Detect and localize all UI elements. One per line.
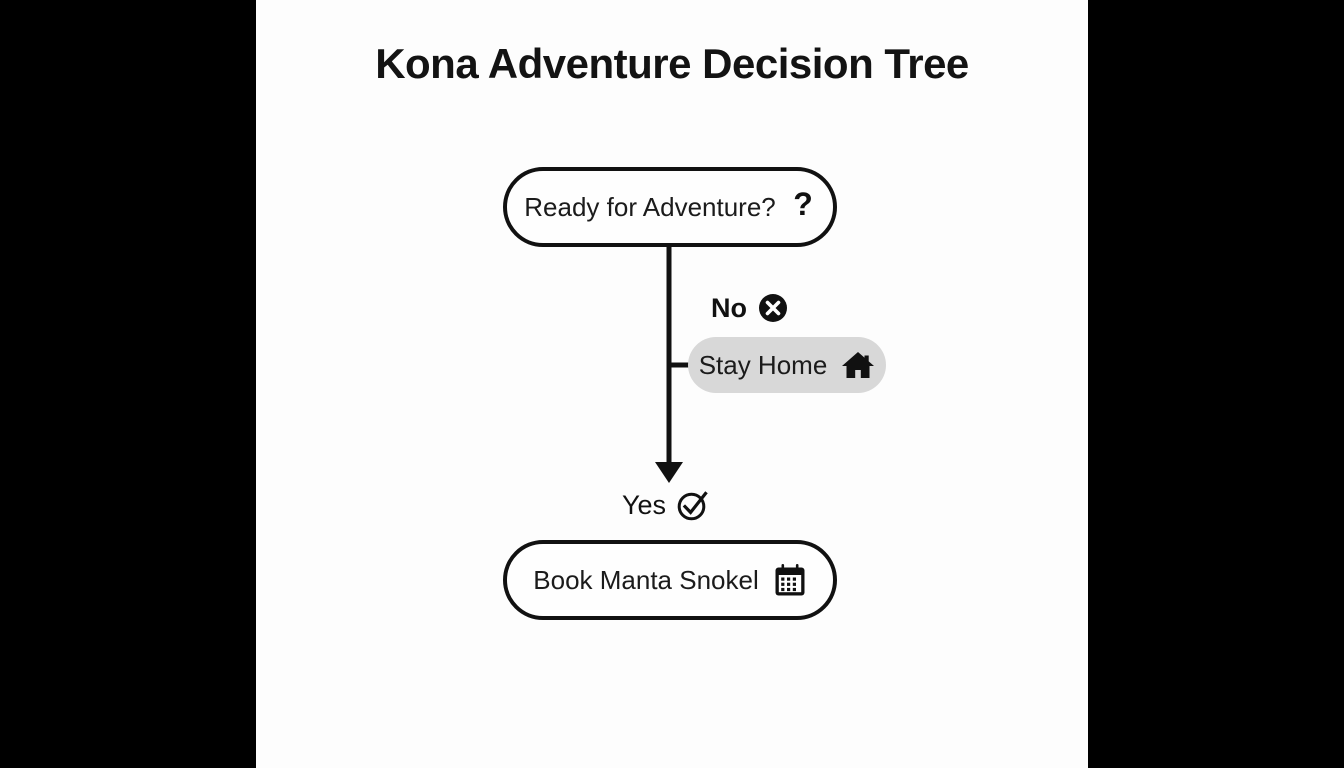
node-book-manta-snorkel[interactable]: Book Manta Snokel [503, 540, 837, 620]
connector-lines [256, 0, 1088, 768]
branch-label-yes: Yes [622, 490, 708, 521]
diagram-canvas: Kona Adventure Decision Tree Ready for A… [256, 0, 1088, 768]
letterbox-bar-left [0, 0, 256, 768]
calendar-icon [773, 563, 807, 597]
letterbox-bar-right [1088, 0, 1344, 768]
page-title: Kona Adventure Decision Tree [256, 40, 1088, 88]
branch-label-no-text: No [711, 295, 747, 322]
node-label-stay-home: Stay Home [699, 352, 828, 378]
node-label-root: Ready for Adventure? [524, 194, 776, 220]
branch-label-no: No [711, 293, 788, 323]
circle-check-icon [677, 490, 708, 521]
node-stay-home[interactable]: Stay Home [688, 337, 886, 393]
question-mark-icon: ? [790, 190, 816, 224]
screenshot-root: Kona Adventure Decision Tree Ready for A… [0, 0, 1344, 768]
circle-x-icon [758, 293, 788, 323]
house-icon [841, 350, 875, 380]
arrowhead-down-icon [655, 462, 683, 483]
node-label-book: Book Manta Snokel [533, 567, 758, 593]
svg-text:?: ? [793, 190, 813, 222]
branch-label-yes-text: Yes [622, 492, 666, 519]
node-ready-for-adventure[interactable]: Ready for Adventure? ? [503, 167, 837, 247]
